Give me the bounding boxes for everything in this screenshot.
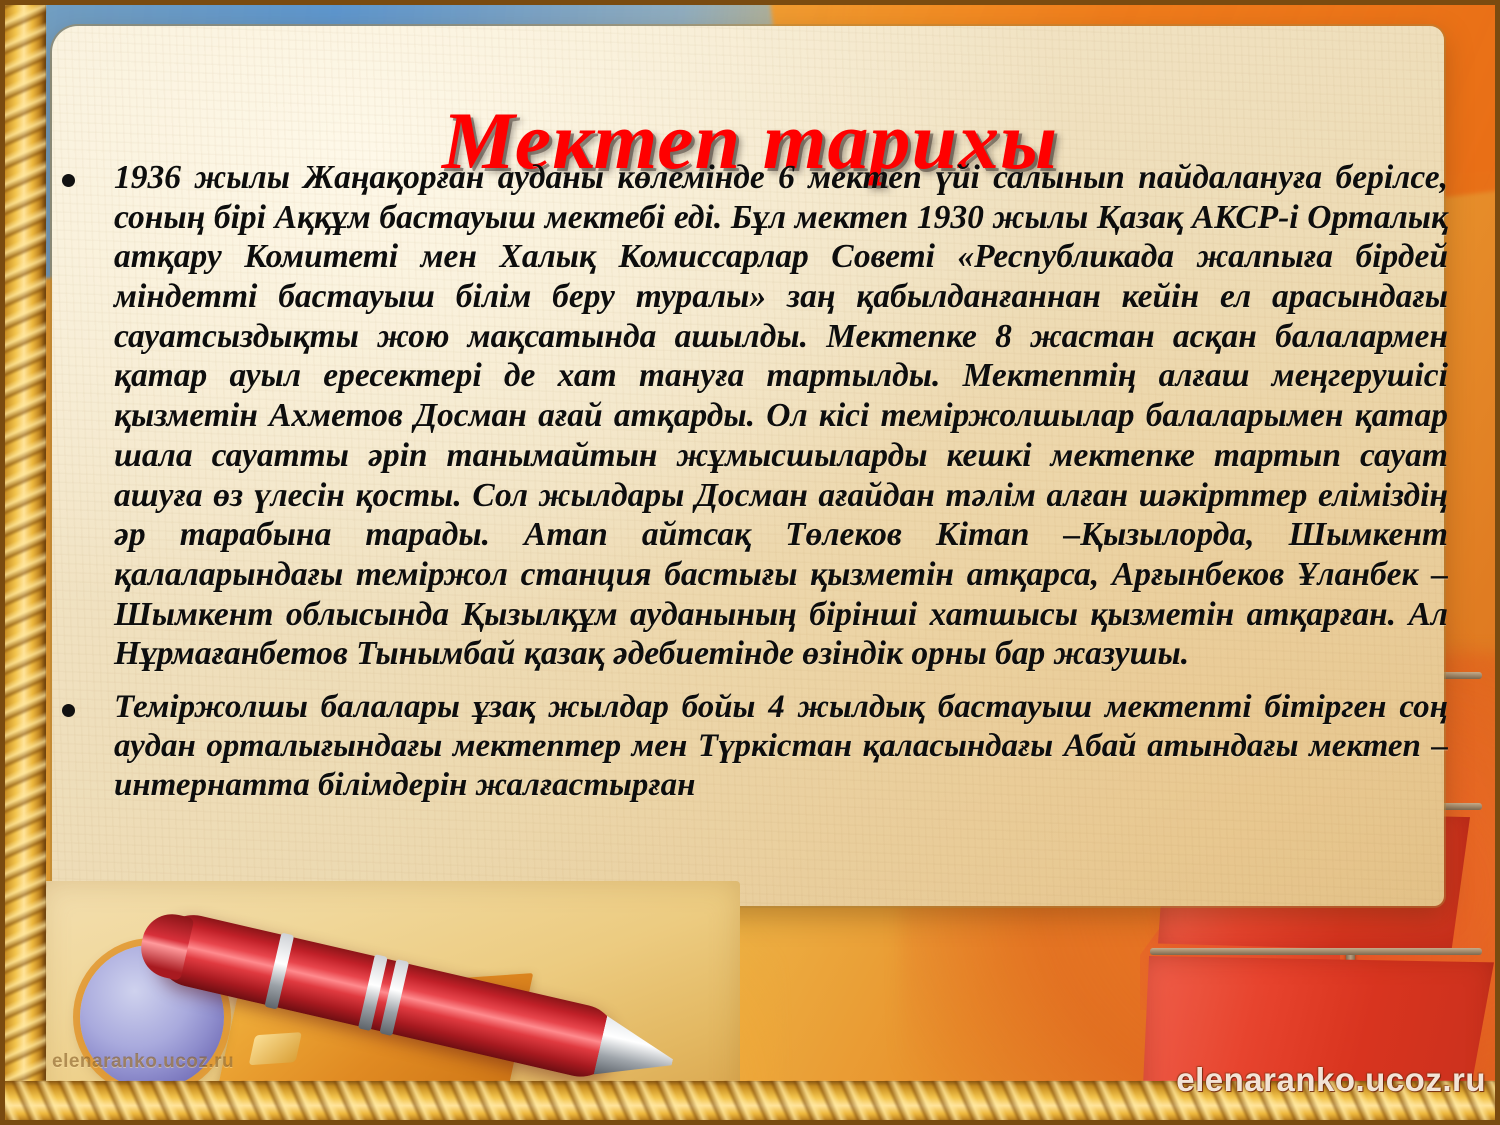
presentation-slide: Мектеп тарихы 1936 жылы Жаңақорған аудан… xyxy=(0,0,1500,1125)
bullet-list: 1936 жылы Жаңақорған ауданы көлемінде 6 … xyxy=(52,158,1448,805)
list-item: Теміржолшы балалары ұзақ жылдар бойы 4 ж… xyxy=(52,688,1448,805)
slide-body: 1936 жылы Жаңақорған ауданы көлемінде 6 … xyxy=(52,158,1448,819)
paragraph-text: Теміржолшы балалары ұзақ жылдар бойы 4 ж… xyxy=(114,688,1448,805)
ship-yard-3 xyxy=(1150,948,1482,955)
card-chip-icon xyxy=(249,1032,302,1065)
pen-ring-1 xyxy=(264,933,294,1010)
spiral-binding-bottom xyxy=(0,1081,1500,1125)
spiral-coils-bottom xyxy=(0,1081,1500,1125)
paragraph-text: 1936 жылы Жаңақорған ауданы көлемінде 6 … xyxy=(114,158,1448,674)
list-item: 1936 жылы Жаңақорған ауданы көлемінде 6 … xyxy=(52,158,1448,674)
